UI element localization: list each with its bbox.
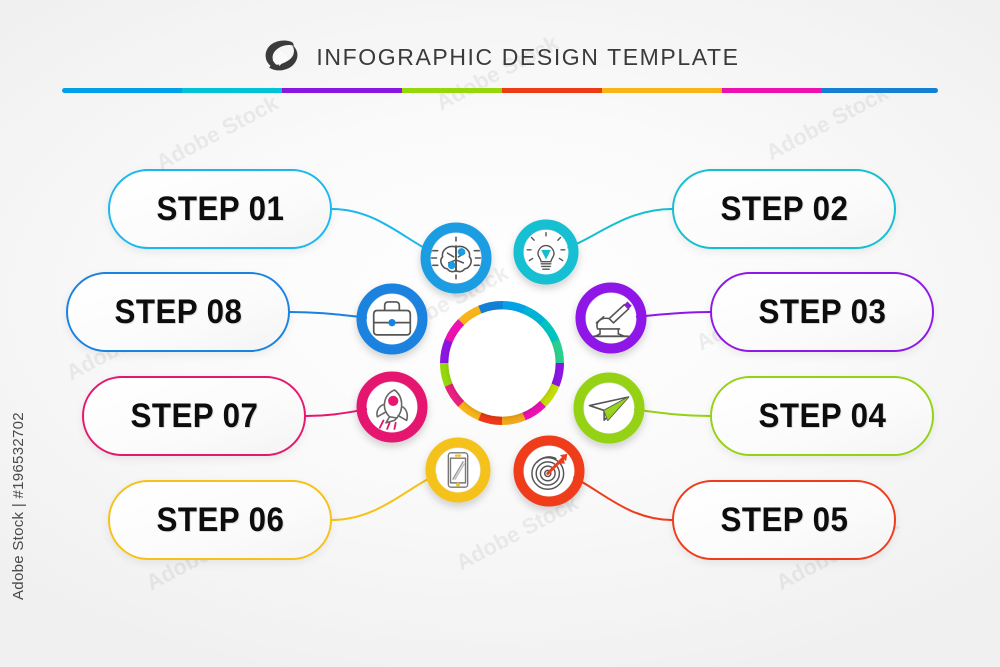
watermark-side-text: Adobe Stock | #196532702 <box>10 300 27 600</box>
icon-glyphs <box>374 233 632 490</box>
connector-step-02 <box>546 209 672 252</box>
center-ring-segment <box>458 305 482 325</box>
icon-face-step-08[interactable] <box>367 294 417 344</box>
rule-segment-4 <box>402 88 502 93</box>
step-label: STEP 07 <box>130 397 258 436</box>
icon-ring-step-07[interactable] <box>362 377 423 438</box>
center-ring-segment <box>440 362 453 386</box>
step-label: STEP 05 <box>720 501 848 540</box>
connector-lines <box>290 209 710 520</box>
center-ring-segment <box>440 339 453 363</box>
rule-segment-6 <box>602 88 722 93</box>
icon-ring-step-08[interactable] <box>362 289 423 350</box>
icon-ring-step-06[interactable] <box>431 443 486 498</box>
rule-segment-2 <box>182 88 282 93</box>
step-label: STEP 08 <box>114 293 242 332</box>
icon-face-step-01[interactable] <box>431 233 481 283</box>
target-icon <box>532 454 567 489</box>
icon-ring-step-05[interactable] <box>519 441 580 502</box>
step-pill-step-05[interactable]: STEP 05 <box>672 480 896 560</box>
watermark-tile: Adobe Stock <box>382 260 513 346</box>
center-ring-segment <box>478 412 502 425</box>
center-ring <box>440 301 564 425</box>
infographic-canvas: Adobe Stock Adobe Stock Adobe Stock Adob… <box>0 0 1000 667</box>
rule-segment-8 <box>821 88 938 93</box>
icon-ring-step-03[interactable] <box>581 288 642 349</box>
center-ring-segment <box>539 383 559 407</box>
page-header: INFOGRAPHIC DESIGN TEMPLATE <box>0 36 1000 78</box>
icon-face-step-06[interactable] <box>436 448 480 492</box>
icon-face-step-04[interactable] <box>584 383 634 433</box>
rainbow-divider <box>62 88 938 93</box>
icon-ring-step-02[interactable] <box>519 225 574 280</box>
connector-step-05 <box>549 471 672 520</box>
icon-face-step-07[interactable] <box>367 382 417 432</box>
connector-step-06 <box>332 470 458 520</box>
rule-segment-1 <box>62 88 182 93</box>
rule-segment-5 <box>502 88 602 93</box>
paper-plane-icon <box>589 397 628 420</box>
icon-face-step-03[interactable] <box>586 293 636 343</box>
brain-icon <box>432 237 481 278</box>
step-pill-step-01[interactable]: STEP 01 <box>108 169 332 249</box>
center-ring-segment <box>501 412 525 425</box>
icon-circles <box>362 225 642 502</box>
watermark-tile: Adobe Stock <box>152 90 283 176</box>
icon-face-step-02[interactable] <box>524 230 568 274</box>
swoosh-logo-icon <box>260 36 302 78</box>
page-title: INFOGRAPHIC DESIGN TEMPLATE <box>316 44 739 71</box>
smartphone-icon <box>448 453 467 487</box>
center-ring-segment <box>522 400 546 420</box>
icon-ring-step-01[interactable] <box>426 228 487 289</box>
step-label: STEP 03 <box>758 293 886 332</box>
connector-step-04 <box>609 408 710 416</box>
center-circle-face[interactable] <box>448 309 555 416</box>
step-label: STEP 01 <box>156 190 284 229</box>
lightbulb-icon <box>527 233 565 269</box>
center-ring-segment <box>444 383 464 407</box>
step-pill-step-07[interactable]: STEP 07 <box>82 376 306 456</box>
icon-face-step-05[interactable] <box>524 446 574 496</box>
connector-step-08 <box>290 312 392 319</box>
step-label: STEP 04 <box>758 397 886 436</box>
center-ring-segment <box>539 319 559 343</box>
step-pill-step-08[interactable]: STEP 08 <box>66 272 290 352</box>
connector-step-07 <box>306 407 392 416</box>
center-ring-segment <box>522 306 546 326</box>
center-ring-segment <box>551 363 564 387</box>
microscope-icon <box>594 302 632 337</box>
center-ring-segment <box>551 339 564 363</box>
step-pill-step-04[interactable]: STEP 04 <box>710 376 934 456</box>
briefcase-icon <box>374 302 411 335</box>
connector-step-03 <box>611 312 710 318</box>
step-pill-step-03[interactable]: STEP 03 <box>710 272 934 352</box>
rule-segment-7 <box>722 88 822 93</box>
connector-step-01 <box>332 209 456 258</box>
step-label: STEP 02 <box>720 190 848 229</box>
watermark-tile: Adobe Stock <box>452 490 583 576</box>
step-pill-step-02[interactable]: STEP 02 <box>672 169 896 249</box>
step-label: STEP 06 <box>156 501 284 540</box>
center-ring-segment <box>445 319 465 343</box>
center-ring-segment <box>458 400 482 420</box>
center-ring-segment <box>478 301 502 314</box>
step-pill-step-06[interactable]: STEP 06 <box>108 480 332 560</box>
icon-ring-step-04[interactable] <box>579 378 640 439</box>
center-ring-segment <box>502 301 526 314</box>
rocket-icon <box>377 390 407 429</box>
rule-segment-3 <box>282 88 402 93</box>
